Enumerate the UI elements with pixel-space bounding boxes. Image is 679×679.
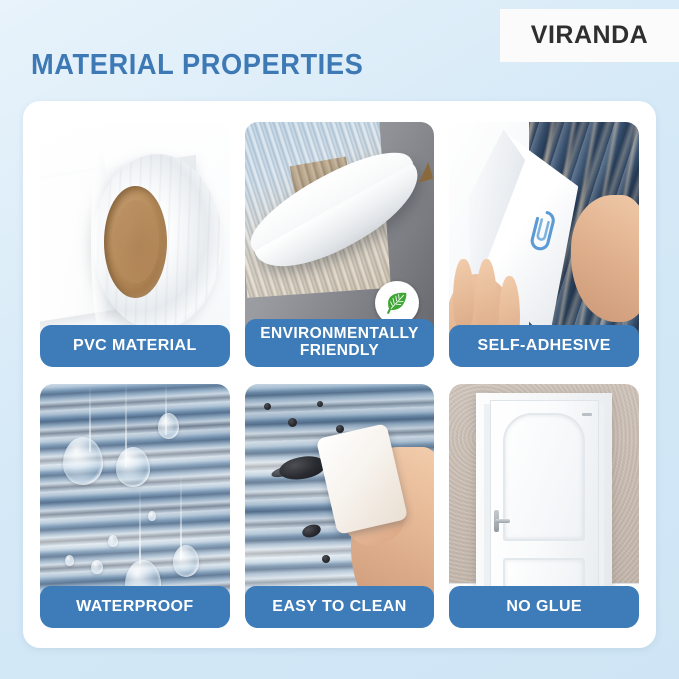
feature-label-environmentally-friendly: ENVIRONMENTALLY FRIENDLY: [245, 319, 435, 367]
feature-tile-self-adhesive[interactable]: SELF-ADHESIVE: [449, 122, 639, 367]
leaf-icon: [384, 290, 410, 316]
feature-grid: PVC MATERIAL: [40, 122, 639, 628]
feature-tile-no-glue[interactable]: NO GLUE: [449, 384, 639, 629]
feature-label-pvc-material: PVC MATERIAL: [40, 325, 230, 367]
page-title: MATERIAL PROPERTIES: [31, 49, 363, 82]
brand-name: VIRANDA: [531, 21, 648, 50]
feature-label-text: EASY TO CLEAN: [272, 598, 406, 615]
brand-badge: VIRANDA: [500, 9, 679, 62]
feature-card: PVC MATERIAL: [23, 101, 656, 648]
feature-tile-environmentally-friendly[interactable]: ENVIRONMENTALLY FRIENDLY: [245, 122, 435, 367]
feature-label-no-glue: NO GLUE: [449, 586, 639, 628]
infographic-page: VIRANDA MATERIAL PROPERTIES PVC MATERIAL: [0, 0, 679, 679]
feature-label-text: SELF-ADHESIVE: [478, 337, 611, 354]
feature-label-text: NO GLUE: [506, 598, 582, 615]
feature-tile-pvc-material[interactable]: PVC MATERIAL: [40, 122, 230, 367]
feature-label-text: PVC MATERIAL: [73, 337, 197, 354]
feature-label-easy-to-clean: EASY TO CLEAN: [245, 586, 435, 628]
feature-tile-waterproof[interactable]: WATERPROOF: [40, 384, 230, 629]
feature-label-self-adhesive: SELF-ADHESIVE: [449, 325, 639, 367]
feature-tile-easy-to-clean[interactable]: EASY TO CLEAN: [245, 384, 435, 629]
feature-label-text: ENVIRONMENTALLY FRIENDLY: [260, 326, 418, 359]
feature-label-text: WATERPROOF: [76, 598, 193, 615]
feature-label-waterproof: WATERPROOF: [40, 586, 230, 628]
